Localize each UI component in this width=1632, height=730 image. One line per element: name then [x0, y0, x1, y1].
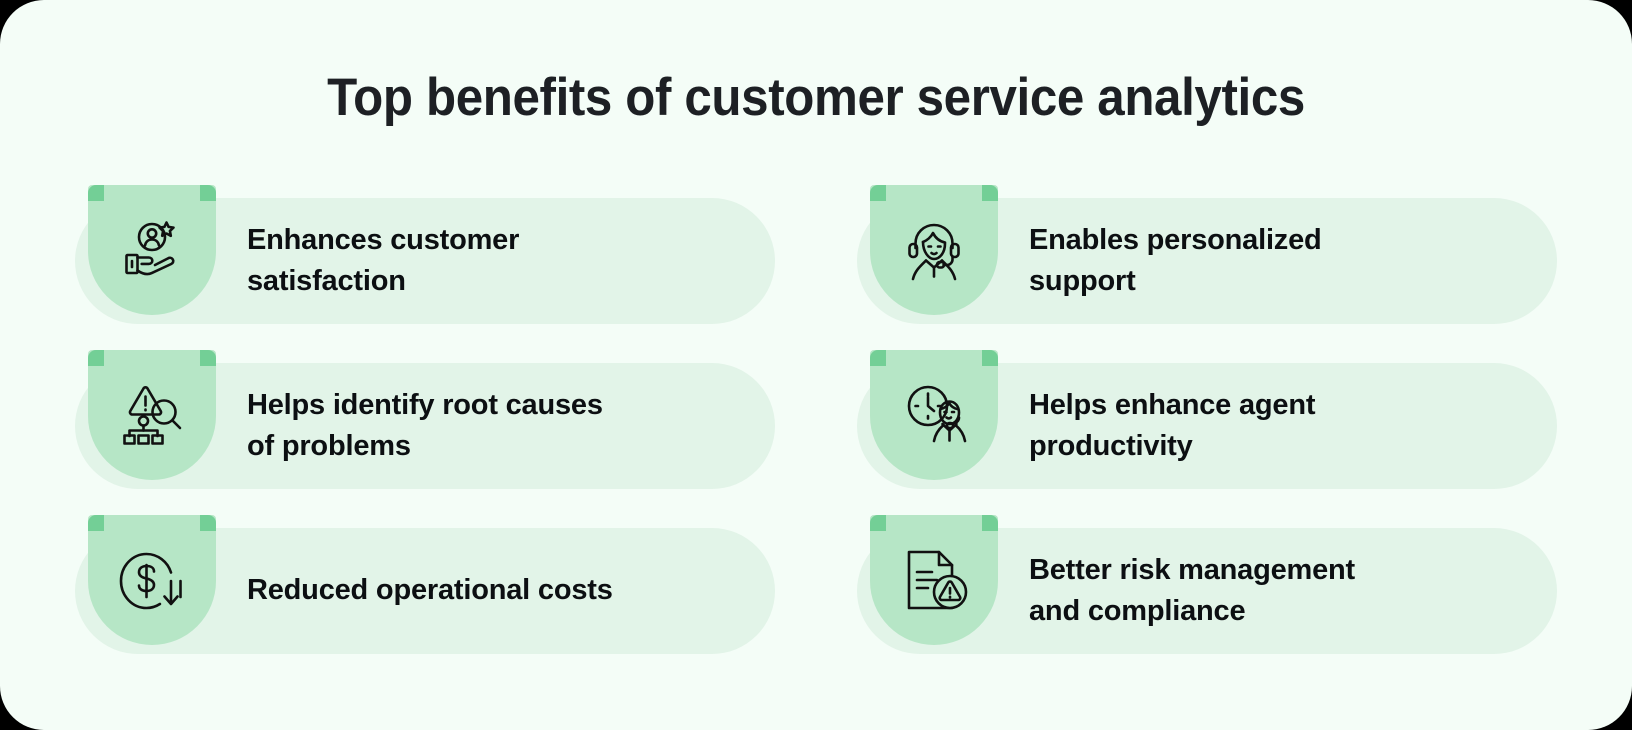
benefit-card: Helps enhance agent productivity — [857, 350, 1557, 480]
benefit-card: Helps identify root causes of problems — [75, 350, 775, 480]
infographic-canvas: Top benefits of customer service analyti… — [0, 0, 1632, 730]
hand-holding-rated-customer-icon — [116, 214, 188, 286]
benefit-label: Reduced operational costs — [247, 528, 747, 654]
benefit-label: Helps enhance agent productivity — [1029, 363, 1539, 489]
root-cause-analysis-icon — [116, 379, 188, 451]
clock-agent-productivity-icon — [898, 379, 970, 451]
benefit-label: Helps identify root causes of problems — [247, 363, 747, 489]
benefit-label: Better risk management and compliance — [1029, 528, 1539, 654]
benefit-card: Enables personalized support — [857, 185, 1557, 315]
icon-badge — [88, 185, 216, 315]
benefit-card: Better risk management and compliance — [857, 515, 1557, 645]
document-risk-alert-icon — [898, 544, 970, 616]
benefit-card: Enhances customer satisfaction — [75, 185, 775, 315]
icon-badge — [870, 350, 998, 480]
page-title: Top benefits of customer service analyti… — [57, 68, 1575, 129]
icon-badge — [88, 515, 216, 645]
benefit-label: Enhances customer satisfaction — [247, 198, 747, 324]
icon-badge — [870, 515, 998, 645]
dollar-cost-down-icon — [116, 544, 188, 616]
icon-badge — [88, 350, 216, 480]
benefit-label: Enables personalized support — [1029, 198, 1539, 324]
benefits-grid: Enhances customer satisfaction — [75, 176, 1557, 646]
icon-badge — [870, 185, 998, 315]
headset-support-agent-icon — [898, 214, 970, 286]
benefit-card: Reduced operational costs — [75, 515, 775, 645]
